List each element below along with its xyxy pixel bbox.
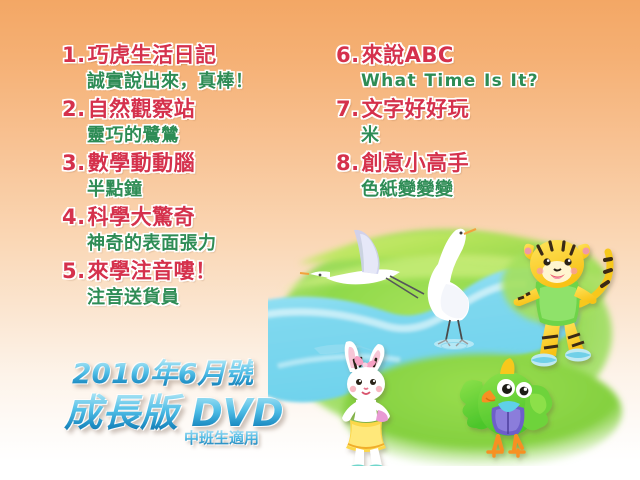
episode-subtitle-7: 米 bbox=[361, 123, 606, 148]
episode-title-text-5: 來學注音嘍！ bbox=[88, 259, 217, 283]
episode-title-text-8: 創意小高手 bbox=[362, 151, 470, 175]
episode-title-2: 2.自然觀察站 bbox=[62, 96, 322, 123]
episode-number-1: 1. bbox=[62, 43, 86, 67]
episode-number-6: 6. bbox=[336, 43, 360, 67]
episode-entry-7[interactable]: 7.文字好好玩 米 bbox=[336, 96, 606, 148]
episode-entry-4[interactable]: 4.科學大驚奇 神奇的表面張力 bbox=[62, 204, 322, 256]
episode-list-left: 1.巧虎生活日記 誠實說出來，真棒！ 2.自然觀察站 靈巧的鷺鷥 3.數學動動腦… bbox=[62, 42, 322, 312]
episode-subtitle-8: 色紙變變變 bbox=[361, 177, 606, 202]
episode-list-right: 6.來說ABC What Time Is It? 7.文字好好玩 米 8.創意小… bbox=[336, 42, 606, 204]
episode-subtitle-1: 誠實說出來，真棒！ bbox=[87, 69, 322, 94]
episode-entry-1[interactable]: 1.巧虎生活日記 誠實說出來，真棒！ bbox=[62, 42, 322, 94]
episode-title-text-6: 來說ABC bbox=[362, 43, 454, 67]
episode-title-3: 3.數學動動腦 bbox=[62, 150, 322, 177]
episode-title-6: 6.來說ABC bbox=[336, 42, 606, 69]
episode-title-text-7: 文字好好玩 bbox=[362, 97, 470, 121]
episode-number-8: 8. bbox=[336, 151, 360, 175]
dvd-logo-block: 2010年6月號 成長版 DVD 中班生適用 bbox=[64, 352, 304, 452]
episode-subtitle-4: 神奇的表面張力 bbox=[87, 231, 322, 256]
episode-entry-5[interactable]: 5.來學注音嘍！ 注音送貨員 bbox=[62, 258, 322, 310]
episode-number-4: 4. bbox=[62, 205, 86, 229]
episode-number-7: 7. bbox=[336, 97, 360, 121]
episode-subtitle-6: What Time Is It? bbox=[361, 69, 606, 94]
episode-title-5: 5.來學注音嘍！ bbox=[62, 258, 322, 285]
episode-entry-3[interactable]: 3.數學動動腦 半點鐘 bbox=[62, 150, 322, 202]
episode-subtitle-5: 注音送貨員 bbox=[87, 285, 322, 310]
episode-entry-8[interactable]: 8.創意小高手 色紙變變變 bbox=[336, 150, 606, 202]
episode-title-text-3: 數學動動腦 bbox=[88, 151, 196, 175]
episode-title-text-4: 科學大驚奇 bbox=[88, 205, 196, 229]
episode-title-8: 8.創意小高手 bbox=[336, 150, 606, 177]
episode-title-4: 4.科學大驚奇 bbox=[62, 204, 322, 231]
episode-title-7: 7.文字好好玩 bbox=[336, 96, 606, 123]
episode-entry-6[interactable]: 6.來說ABC What Time Is It? bbox=[336, 42, 606, 94]
episode-title-text-2: 自然觀察站 bbox=[88, 97, 196, 121]
episode-number-3: 3. bbox=[62, 151, 86, 175]
episode-title-text-1: 巧虎生活日記 bbox=[88, 43, 217, 67]
age-group-label: 中班生適用 bbox=[184, 427, 259, 448]
episode-number-2: 2. bbox=[62, 97, 86, 121]
pond-scene-illustration bbox=[268, 216, 628, 466]
episode-subtitle-2: 靈巧的鷺鷥 bbox=[87, 123, 322, 148]
dvd-menu-screen: 1.巧虎生活日記 誠實說出來，真棒！ 2.自然觀察站 靈巧的鷺鷥 3.數學動動腦… bbox=[0, 0, 640, 480]
episode-number-5: 5. bbox=[62, 259, 86, 283]
episode-title-1: 1.巧虎生活日記 bbox=[62, 42, 322, 69]
episode-subtitle-3: 半點鐘 bbox=[87, 177, 322, 202]
episode-entry-2[interactable]: 2.自然觀察站 靈巧的鷺鷥 bbox=[62, 96, 322, 148]
